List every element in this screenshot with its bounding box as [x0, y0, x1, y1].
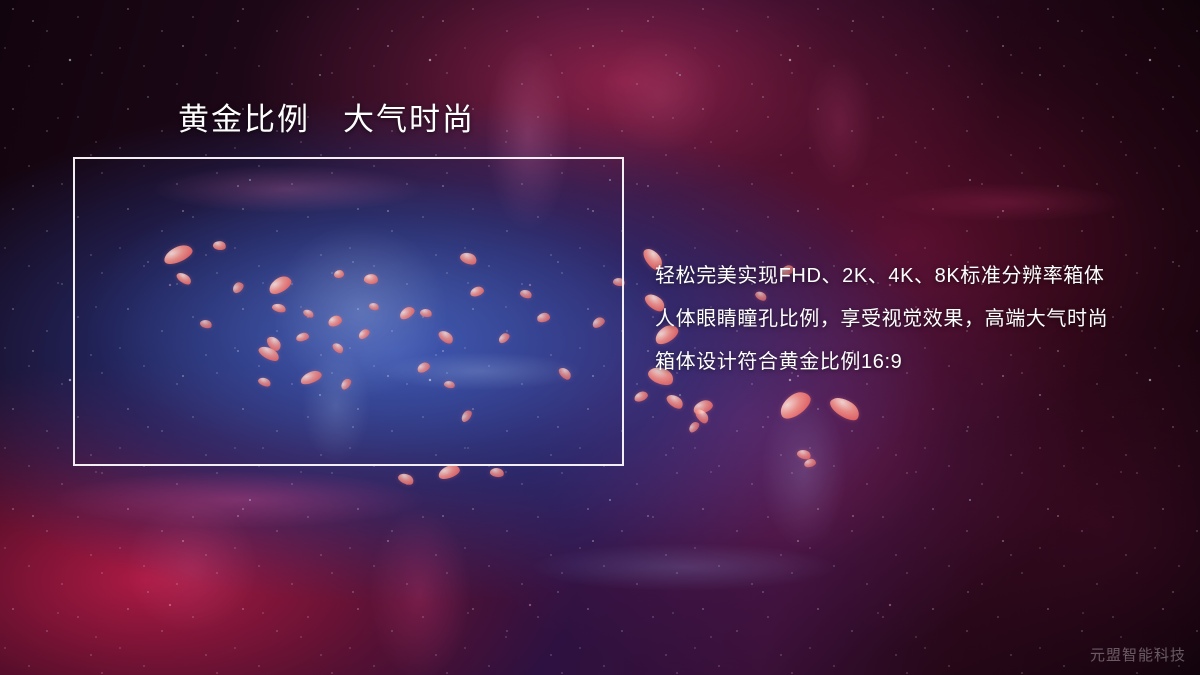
framed-starfield-small-icon [73, 157, 624, 466]
petal-icon [416, 361, 432, 375]
petal-icon [557, 365, 573, 381]
body-line-3: 箱体设计符合黄金比例16:9 [655, 341, 1175, 384]
petal-icon [489, 467, 505, 479]
petal-icon [302, 308, 315, 320]
petal-icon [519, 288, 533, 300]
petal-icon [469, 285, 485, 298]
petal-icon [458, 250, 478, 267]
petal-icon [199, 318, 213, 329]
petal-icon [334, 270, 344, 278]
petal-icon [687, 420, 701, 434]
petal-icon [827, 393, 863, 425]
petal-icon [536, 312, 550, 323]
body-line-2: 人体眼睛瞳孔比例，享受视觉效果，高端大气时尚 [655, 298, 1175, 341]
framed-floating-petals [73, 157, 624, 466]
petal-icon [368, 302, 380, 312]
petal-icon [331, 341, 345, 355]
framed-starfield-medium-icon [73, 157, 624, 466]
petal-icon [693, 407, 710, 426]
petal-icon [161, 242, 194, 267]
framed-starfield-large-icon [73, 157, 624, 466]
presentation-slide: 黄金比例 大气时尚 轻松完美实现FHD、2K、4K、8K标准分辨率箱体 人体眼睛… [0, 0, 1200, 675]
petal-icon [419, 308, 433, 319]
petal-icon [796, 448, 812, 461]
petal-icon [437, 463, 462, 466]
petal-icon [231, 280, 246, 295]
petal-icon [299, 369, 323, 387]
framed-image-16-9 [73, 157, 624, 466]
petal-icon [591, 315, 607, 329]
petal-icon [497, 331, 511, 345]
page-title: 黄金比例 大气时尚 [178, 100, 475, 140]
petal-icon [398, 305, 417, 322]
petal-icon [257, 343, 282, 364]
petal-icon [775, 387, 814, 423]
framed-nebula-background [73, 157, 624, 466]
petal-icon [803, 458, 816, 468]
petal-icon [443, 380, 456, 390]
petal-icon [295, 332, 309, 343]
petal-icon [266, 273, 294, 297]
petal-icon [363, 273, 378, 285]
petal-icon [257, 376, 272, 389]
petal-icon [633, 390, 649, 403]
petal-icon [339, 377, 353, 391]
petal-icon [327, 314, 343, 328]
petal-icon [665, 392, 686, 412]
body-copy: 轻松完美实现FHD、2K、4K、8K标准分辨率箱体 人体眼睛瞳孔比例，享受视觉效… [655, 255, 1175, 384]
framed-nebula-wisps [73, 157, 624, 466]
petal-icon [692, 398, 715, 416]
petal-icon [175, 270, 193, 287]
petal-icon [271, 302, 287, 314]
petal-icon [437, 328, 456, 346]
framed-image-content [73, 157, 624, 466]
petal-icon [612, 277, 624, 287]
body-line-1: 轻松完美实现FHD、2K、4K、8K标准分辨率箱体 [655, 255, 1175, 298]
petal-icon [212, 240, 226, 251]
petal-icon [459, 408, 473, 423]
petal-icon [265, 334, 284, 353]
framed-nebula-glow [73, 157, 624, 466]
petal-icon [397, 471, 416, 487]
petal-icon [357, 327, 371, 340]
watermark: 元盟智能科技 [1090, 644, 1186, 665]
